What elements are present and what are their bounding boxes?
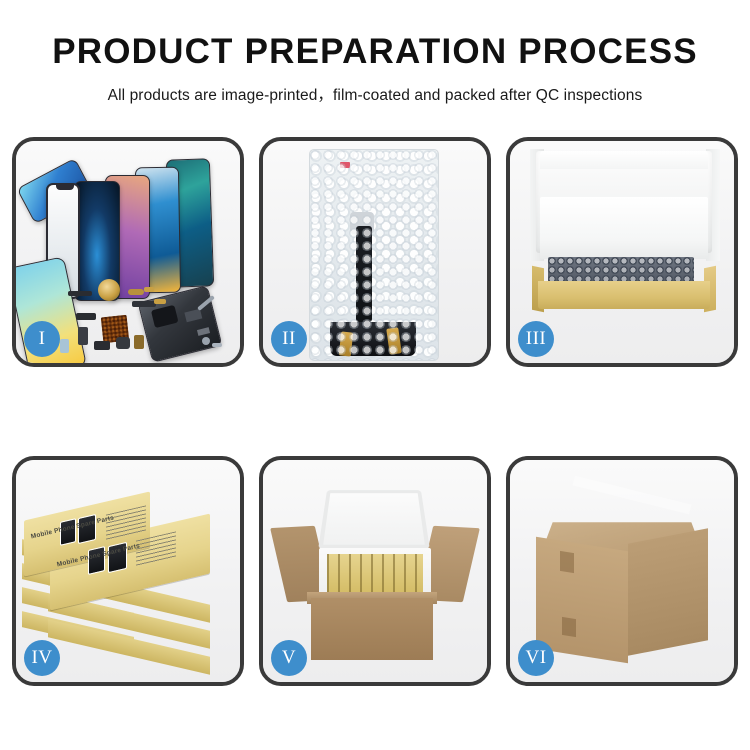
carton-tape-patch-top bbox=[560, 551, 574, 573]
part-sim-tray bbox=[60, 339, 69, 353]
part-bracket bbox=[94, 341, 110, 350]
step-badge-1: I bbox=[24, 321, 60, 357]
page-title: PRODUCT PREPARATION PROCESS bbox=[0, 34, 750, 71]
part-gold-tab bbox=[144, 287, 154, 292]
part-flex-bar bbox=[68, 291, 92, 296]
panel-step-3[interactable]: III bbox=[506, 137, 738, 367]
bubble-wrap-bag bbox=[309, 149, 439, 361]
page-header: PRODUCT PREPARATION PROCESS All products… bbox=[0, 0, 750, 105]
white-foam-sheet bbox=[540, 197, 708, 259]
part-gold-pin bbox=[154, 299, 166, 304]
part-gold-flex bbox=[128, 289, 144, 295]
part-camera bbox=[116, 337, 130, 349]
panel-step-2[interactable]: II bbox=[259, 137, 491, 367]
page-subtitle: All products are image-printed，film-coat… bbox=[0, 83, 750, 105]
part-gold-clip bbox=[134, 335, 144, 349]
step-badge-3: III bbox=[518, 321, 554, 357]
part-ribbon bbox=[132, 301, 156, 307]
part-button-flex bbox=[76, 313, 96, 320]
panel-step-6[interactable]: VI bbox=[506, 456, 738, 686]
speaker-module bbox=[98, 279, 120, 301]
carton-tape-seam bbox=[573, 476, 692, 515]
part-screw bbox=[212, 343, 222, 347]
flex-cable-strip bbox=[356, 226, 372, 322]
gold-contact-left bbox=[339, 331, 353, 356]
panel-step-4[interactable]: Mobile Phone Spare Parts Mobile Phone Sp… bbox=[12, 456, 244, 686]
panel-step-1[interactable]: I bbox=[12, 137, 244, 367]
carton-side-face bbox=[628, 528, 708, 656]
step-badge-5: V bbox=[271, 640, 307, 676]
part-cable bbox=[78, 327, 88, 345]
foam-box-lid bbox=[318, 490, 430, 549]
yellow-box-base bbox=[538, 281, 710, 309]
yellow-boxes-inside bbox=[327, 554, 423, 596]
carton-front-face bbox=[536, 537, 628, 664]
part-screw-head bbox=[202, 337, 210, 345]
step-badge-4: IV bbox=[24, 640, 60, 676]
carton-tape-patch-bottom bbox=[562, 617, 576, 637]
carton-front-face bbox=[311, 598, 433, 660]
step-badge-2: II bbox=[271, 321, 307, 357]
panel-step-5[interactable]: V bbox=[259, 456, 491, 686]
pink-label-tab bbox=[340, 162, 350, 168]
step-badge-6: VI bbox=[518, 640, 554, 676]
process-panel-grid: I II III bbox=[12, 137, 738, 686]
